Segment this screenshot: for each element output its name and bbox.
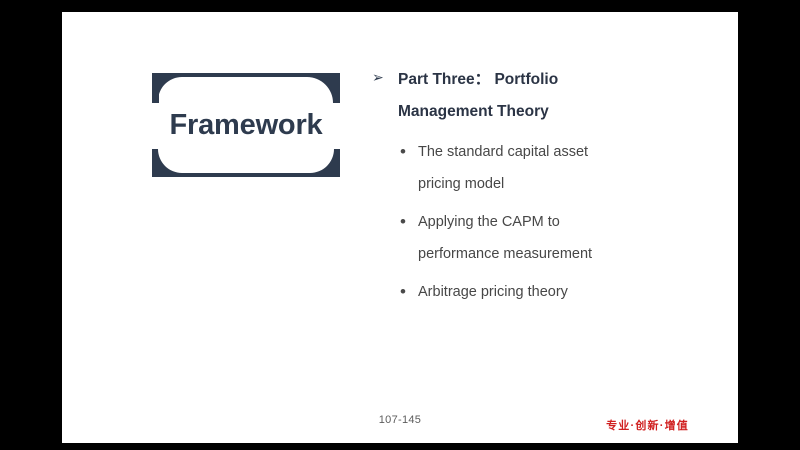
sub-bullet-line: The standard capital asset — [418, 136, 718, 168]
brand-tagline: 专业·创新·增值 — [606, 417, 689, 433]
sub-bullet-line: pricing model — [418, 168, 718, 200]
sub-bullet-item: • Applying the CAPM to performance measu… — [372, 206, 718, 270]
sub-bullet-line: performance measurement — [418, 238, 718, 270]
dot-bullet-icon: • — [400, 136, 406, 168]
slide-canvas: Framework ➢ Part Three： Portfolio Manage… — [62, 12, 738, 443]
sub-bullet-item: • The standard capital asset pricing mod… — [372, 136, 718, 200]
sub-bullet-line: Applying the CAPM to — [418, 206, 718, 238]
sub-bullet-item: • Arbitrage pricing theory — [372, 276, 718, 308]
badge-title: Framework — [148, 69, 344, 181]
lead-bullet-line: Part Three： Portfolio — [398, 64, 718, 96]
dot-bullet-icon: • — [400, 276, 406, 308]
lead-bullet-item: ➢ Part Three： Portfolio Management Theor… — [372, 64, 718, 128]
arrow-bullet-icon: ➢ — [372, 66, 384, 88]
dot-bullet-icon: • — [400, 206, 406, 238]
bullet-list: ➢ Part Three： Portfolio Management Theor… — [372, 64, 718, 308]
video-player-frame: Framework ➢ Part Three： Portfolio Manage… — [0, 0, 800, 450]
sub-bullet-line: Arbitrage pricing theory — [418, 276, 718, 308]
framework-badge: Framework — [148, 69, 344, 181]
lead-bullet-line: Management Theory — [398, 96, 718, 128]
